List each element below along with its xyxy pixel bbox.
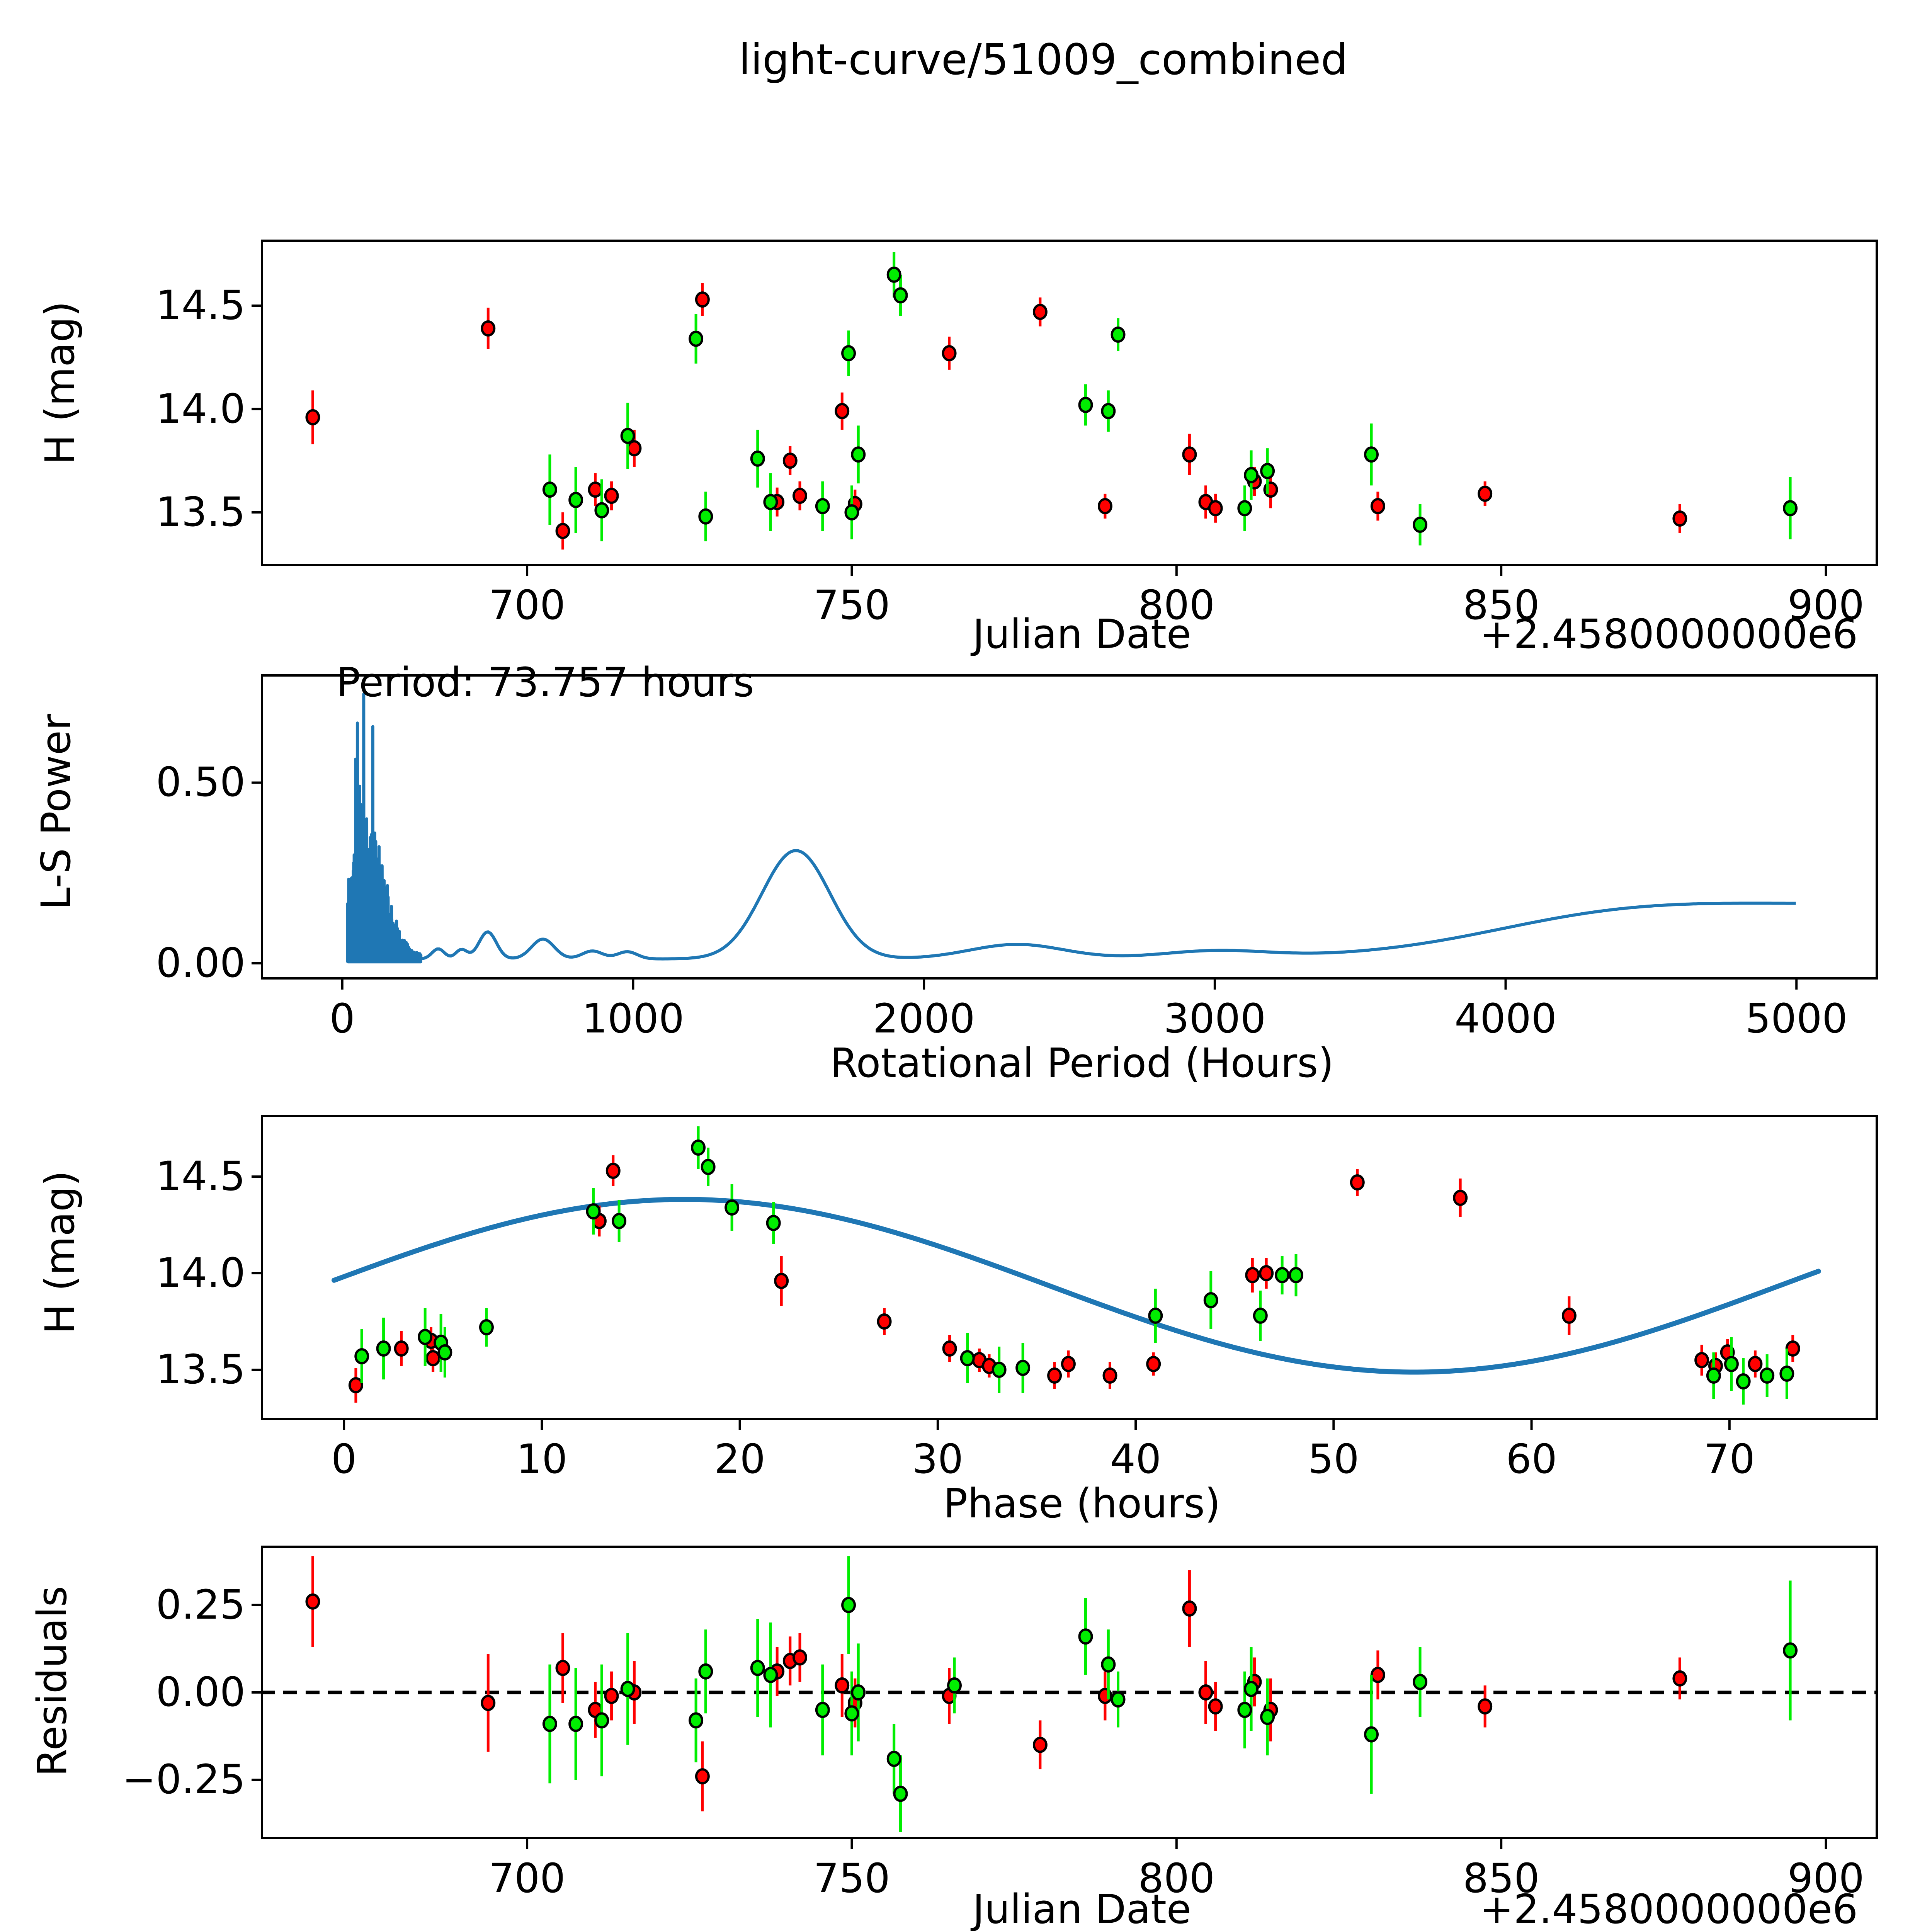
data-point: [570, 493, 582, 507]
data-point: [696, 1769, 709, 1783]
data-point: [1737, 1374, 1750, 1388]
panel-phase-folded: [261, 1115, 1878, 1420]
data-point: [482, 1696, 494, 1710]
xlabel-phase: Phase (hours): [753, 1480, 1410, 1527]
data-point: [1479, 487, 1491, 501]
data-point: [696, 293, 709, 306]
series-red: [350, 1155, 1799, 1403]
ytick-label: 14.0: [60, 385, 245, 432]
data-point: [726, 1201, 738, 1214]
data-point: [595, 503, 608, 517]
data-point: [1209, 1699, 1222, 1713]
ytick-label: 13.5: [60, 488, 245, 536]
data-point: [784, 454, 796, 468]
data-point: [482, 321, 494, 335]
data-point: [816, 1703, 829, 1717]
data-point: [1708, 1369, 1720, 1383]
data-point: [1749, 1357, 1761, 1371]
data-point: [1365, 1728, 1378, 1742]
data-point: [702, 1160, 714, 1174]
data-point: [943, 346, 956, 360]
data-point: [1238, 501, 1251, 515]
data-point: [595, 1713, 608, 1727]
data-point: [378, 1342, 390, 1355]
data-point: [1238, 1703, 1251, 1717]
data-point: [544, 483, 556, 497]
data-point: [948, 1679, 961, 1692]
xtick-label: 4000: [1409, 995, 1602, 1042]
ytick-label: 0.25: [60, 1581, 245, 1628]
data-point: [306, 410, 319, 424]
data-point: [699, 1665, 712, 1679]
xoffset-lightcurve: +2.4580000000e6: [1480, 611, 1858, 658]
data-point: [836, 1679, 848, 1692]
data-point: [350, 1378, 362, 1392]
ytick-label: 14.0: [60, 1249, 245, 1296]
data-point: [1245, 468, 1257, 482]
data-point: [842, 346, 855, 360]
ytick-label: 0.00: [60, 1668, 245, 1716]
data-point: [852, 1685, 864, 1699]
sinusoid-fit-line: [334, 1199, 1819, 1372]
data-point: [1147, 1357, 1160, 1371]
plot-area-periodogram: [261, 674, 1878, 980]
data-point: [895, 288, 907, 302]
data-point: [1062, 1357, 1075, 1371]
data-point: [607, 1164, 619, 1178]
data-point: [1246, 1268, 1259, 1282]
data-point: [993, 1363, 1005, 1377]
data-point: [480, 1320, 493, 1334]
data-point: [888, 268, 900, 282]
data-point: [895, 1787, 907, 1801]
data-point: [888, 1752, 900, 1766]
xtick-label: 70: [1633, 1435, 1826, 1483]
data-point: [944, 1342, 956, 1355]
ytick-label: 0.50: [60, 759, 245, 806]
plot-area-phase: [261, 1115, 1878, 1420]
data-point: [1725, 1357, 1738, 1371]
data-point: [1372, 1668, 1384, 1682]
figure-root: light-curve/51009_combined H (mag) 14.51…: [0, 0, 1932, 1932]
data-point: [1261, 464, 1274, 478]
data-point: [1099, 499, 1111, 513]
panel-lightcurve: [261, 240, 1878, 566]
xlabel-periodogram: Rotational Period (Hours): [734, 1039, 1430, 1087]
data-point: [1673, 1672, 1686, 1685]
plot-area-lightcurve: [261, 240, 1878, 566]
panel-periodogram: [261, 674, 1878, 980]
data-point: [1199, 1685, 1212, 1699]
ytick-label: 13.5: [60, 1346, 245, 1393]
data-point: [306, 1595, 319, 1609]
data-point: [1080, 398, 1092, 412]
data-point: [1245, 1682, 1257, 1696]
xtick-label: 3000: [1118, 995, 1311, 1042]
xtick-label: 5000: [1700, 995, 1893, 1042]
series-red: [306, 283, 1686, 549]
data-point: [1261, 1710, 1274, 1724]
data-point: [690, 1713, 702, 1727]
data-point: [419, 1330, 431, 1344]
data-point: [1787, 1342, 1799, 1355]
data-point: [690, 332, 702, 346]
series-red: [306, 1556, 1686, 1811]
data-point: [836, 404, 848, 418]
panel-residuals: [261, 1546, 1878, 1839]
xtick-label: 40: [1039, 1435, 1232, 1483]
data-point: [845, 1706, 858, 1720]
data-point: [557, 524, 569, 538]
data-point: [1183, 1602, 1196, 1616]
data-point: [1290, 1268, 1302, 1282]
xtick-label: 30: [841, 1435, 1034, 1483]
data-point: [878, 1315, 891, 1328]
figure-title: light-curve/51009_combined: [0, 35, 1932, 84]
data-point: [1784, 1643, 1796, 1657]
data-point: [692, 1141, 704, 1155]
data-point: [1254, 1309, 1267, 1323]
data-point: [764, 495, 777, 509]
data-point: [1276, 1268, 1288, 1282]
data-point: [794, 489, 806, 503]
data-point: [1784, 501, 1796, 515]
data-point: [1149, 1309, 1162, 1323]
data-point: [1102, 404, 1114, 418]
data-point: [816, 499, 829, 513]
xtick-label: 2000: [827, 995, 1020, 1042]
data-point: [1183, 447, 1196, 461]
data-point: [1365, 447, 1378, 461]
data-point: [1781, 1367, 1793, 1381]
xoffset-residuals: +2.4580000000e6: [1480, 1886, 1858, 1932]
data-point: [605, 1689, 618, 1703]
data-point: [605, 489, 618, 503]
periodogram-curve: [347, 694, 1796, 962]
data-point: [1563, 1309, 1575, 1323]
data-point: [845, 505, 858, 519]
xtick-label: 700: [430, 582, 624, 629]
data-point: [557, 1661, 569, 1675]
xtick-label: 10: [445, 1435, 638, 1483]
data-point: [752, 1661, 764, 1675]
data-point: [1454, 1191, 1466, 1205]
data-point: [1351, 1175, 1364, 1189]
data-point: [355, 1349, 368, 1363]
data-point: [764, 1668, 777, 1682]
data-point: [613, 1214, 625, 1228]
ytick-label: 14.5: [60, 1153, 245, 1200]
data-point: [1696, 1353, 1708, 1367]
ytick-label: 0.00: [60, 939, 245, 986]
data-point: [775, 1274, 787, 1288]
xtick-label: 0: [247, 1435, 440, 1483]
xlabel-lightcurve: Julian Date: [773, 611, 1391, 658]
xtick-label: 50: [1237, 1435, 1430, 1483]
data-point: [1034, 305, 1046, 319]
xtick-label: 700: [430, 1855, 624, 1902]
data-point: [587, 1204, 600, 1218]
data-point: [544, 1717, 556, 1731]
data-point: [794, 1651, 806, 1665]
data-point: [395, 1342, 408, 1355]
data-point: [439, 1345, 451, 1359]
data-point: [961, 1351, 974, 1365]
data-point: [1414, 518, 1426, 532]
data-point: [1102, 1658, 1114, 1672]
data-point: [589, 483, 602, 497]
series-green: [544, 252, 1796, 545]
data-point: [1414, 1675, 1426, 1689]
data-point: [570, 1717, 582, 1731]
data-point: [842, 1598, 855, 1612]
data-point: [1209, 501, 1222, 515]
data-point: [1080, 1629, 1092, 1643]
xtick-label: 60: [1435, 1435, 1628, 1483]
data-point: [622, 1682, 634, 1696]
data-point: [622, 429, 634, 443]
data-point: [1112, 328, 1124, 342]
xtick-label: 0: [246, 995, 439, 1042]
data-point: [699, 510, 712, 524]
data-point: [767, 1216, 780, 1230]
data-point: [852, 447, 864, 461]
ytick-label: −0.25: [60, 1756, 245, 1803]
data-point: [1104, 1369, 1116, 1383]
ytick-label: 14.5: [60, 282, 245, 329]
data-point: [1761, 1369, 1773, 1383]
period-annotation: Period: 73.757 hours: [336, 659, 754, 706]
data-point: [1673, 512, 1686, 526]
data-point: [1260, 1266, 1272, 1280]
xtick-label: 1000: [536, 995, 730, 1042]
data-point: [1112, 1692, 1124, 1706]
data-point: [752, 452, 764, 466]
data-point: [1017, 1361, 1029, 1375]
data-point: [1048, 1369, 1061, 1383]
xtick-label: 20: [643, 1435, 837, 1483]
data-point: [1372, 499, 1384, 513]
data-point: [427, 1351, 439, 1365]
xlabel-residuals: Julian Date: [773, 1886, 1391, 1932]
series-green: [544, 1556, 1796, 1832]
plot-area-residuals: [261, 1546, 1878, 1839]
data-point: [1034, 1738, 1046, 1752]
data-point: [1205, 1293, 1217, 1307]
data-point: [1479, 1699, 1491, 1713]
